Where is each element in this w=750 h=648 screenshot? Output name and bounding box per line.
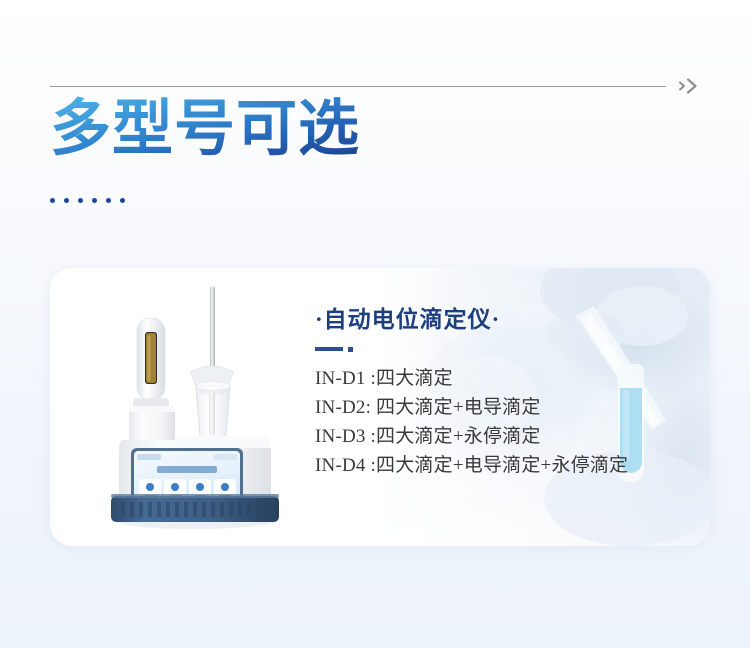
decorative-dots (50, 198, 125, 203)
dot (92, 198, 97, 203)
dot (78, 198, 83, 203)
header-divider-row (50, 76, 710, 96)
card-text-block: ·自动电位滴定仪· IN-D1 :四大滴定 IN-D2: 四大滴定+电导滴定 I… (315, 306, 695, 480)
page-title: 多型号可选 (50, 96, 360, 164)
header-divider-line (50, 86, 666, 87)
list-item: IN-D2: 四大滴定+电导滴定 (315, 393, 695, 422)
product-card: ·自动电位滴定仪· IN-D1 :四大滴定 IN-D2: 四大滴定+电导滴定 I… (50, 268, 710, 546)
model-list: IN-D1 :四大滴定 IN-D2: 四大滴定+电导滴定 IN-D3 :四大滴定… (315, 364, 695, 480)
dot (50, 198, 55, 203)
list-item: IN-D1 :四大滴定 (315, 364, 695, 393)
titrator-device-image (95, 280, 295, 538)
dot (120, 198, 125, 203)
page-header: 多型号可选 (0, 0, 750, 235)
card-heading: ·自动电位滴定仪· (315, 306, 695, 334)
underline-bar (315, 347, 343, 351)
dot (64, 198, 69, 203)
list-item: IN-D3 :四大滴定+永停滴定 (315, 422, 695, 451)
dot (106, 198, 111, 203)
list-item: IN-D4 :四大滴定+电导滴定+永停滴定 (315, 451, 695, 480)
underline-dot (348, 347, 353, 352)
heading-underline (315, 347, 695, 352)
double-chevron-right-icon (676, 76, 710, 96)
